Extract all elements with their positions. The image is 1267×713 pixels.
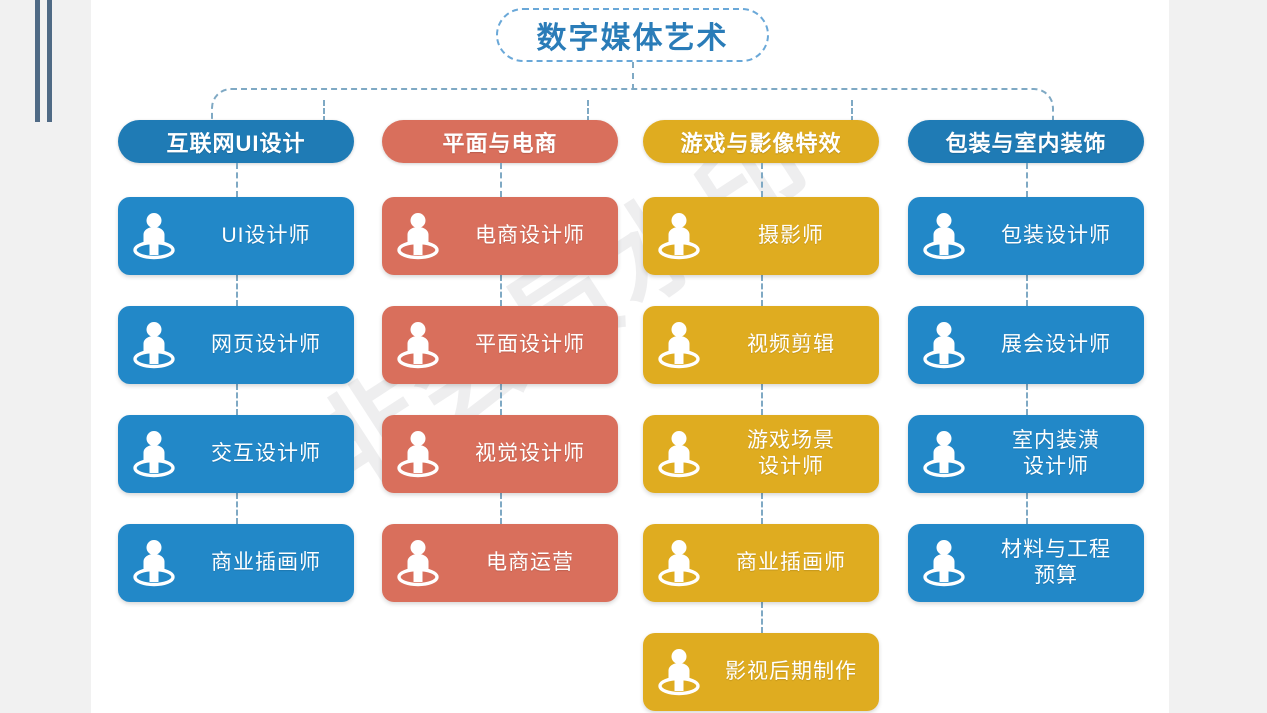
column-header-label: 平面与电商: [442, 126, 557, 158]
role-card-label: 摄影师: [715, 223, 879, 249]
column-3-link-5: [761, 602, 763, 633]
role-card-label: 视觉设计师: [454, 441, 618, 467]
column-2-link-3: [500, 384, 502, 415]
column-3-link-1: [761, 163, 763, 197]
column-header-3[interactable]: 游戏与影像特效: [643, 120, 879, 163]
person-icon: [118, 197, 190, 275]
role-card-label: 网页设计师: [190, 332, 354, 358]
left-decoration-bars: [34, 0, 58, 122]
role-card-label: 游戏场景 设计师: [715, 428, 879, 479]
person-icon: [382, 415, 454, 493]
role-card[interactable]: 摄影师: [643, 197, 879, 275]
person-icon: [382, 524, 454, 602]
role-card-label: 电商设计师: [454, 223, 618, 249]
column-1-link-3: [236, 384, 238, 415]
decoration-bar-2: [47, 0, 52, 122]
root-node-label: 数字媒体艺术: [537, 13, 729, 57]
role-card-label: 交互设计师: [190, 441, 354, 467]
decoration-bar-1: [35, 0, 40, 122]
role-card[interactable]: 材料与工程 预算: [908, 524, 1144, 602]
column-2-link-4: [500, 493, 502, 524]
slide-stage: 非会员水印 数字媒体艺术 互联网UI设计UI设计师网页设计师交互设计师商业插画师…: [0, 0, 1267, 713]
role-card[interactable]: 电商设计师: [382, 197, 618, 275]
role-card[interactable]: 视觉设计师: [382, 415, 618, 493]
diagram-canvas: 非会员水印 数字媒体艺术 互联网UI设计UI设计师网页设计师交互设计师商业插画师…: [91, 0, 1169, 713]
root-node[interactable]: 数字媒体艺术: [496, 8, 769, 62]
column-1-link-1: [236, 163, 238, 197]
role-card[interactable]: 商业插画师: [643, 524, 879, 602]
role-card[interactable]: 平面设计师: [382, 306, 618, 384]
column-4-link-1: [1026, 163, 1028, 197]
role-card[interactable]: UI设计师: [118, 197, 354, 275]
connector-root-stem: [632, 62, 634, 90]
connector-bracket: [211, 88, 1054, 122]
role-card[interactable]: 网页设计师: [118, 306, 354, 384]
role-card-label: 电商运营: [454, 550, 618, 576]
column-3-link-3: [761, 384, 763, 415]
column-header-label: 游戏与影像特效: [680, 126, 841, 158]
role-card[interactable]: 游戏场景 设计师: [643, 415, 879, 493]
person-icon: [643, 524, 715, 602]
role-card-label: 影视后期制作: [715, 659, 879, 685]
column-1-link-2: [236, 275, 238, 306]
role-card-label: 展会设计师: [980, 332, 1144, 358]
role-card[interactable]: 包装设计师: [908, 197, 1144, 275]
role-card[interactable]: 影视后期制作: [643, 633, 879, 711]
column-2-link-1: [500, 163, 502, 197]
person-icon: [643, 633, 715, 711]
column-2-link-2: [500, 275, 502, 306]
role-card-label: 包装设计师: [980, 223, 1144, 249]
person-icon: [118, 524, 190, 602]
column-4-link-3: [1026, 384, 1028, 415]
role-card-label: 商业插画师: [190, 550, 354, 576]
person-icon: [382, 197, 454, 275]
person-icon: [908, 524, 980, 602]
column-header-2[interactable]: 平面与电商: [382, 120, 618, 163]
column-header-4[interactable]: 包装与室内装饰: [908, 120, 1144, 163]
column-header-label: 互联网UI设计: [166, 126, 305, 158]
role-card-label: 材料与工程 预算: [980, 537, 1144, 588]
column-4-link-2: [1026, 275, 1028, 306]
person-icon: [118, 415, 190, 493]
connector-drop-3: [851, 100, 853, 122]
column-1-link-4: [236, 493, 238, 524]
person-icon: [908, 306, 980, 384]
role-card-label: 视频剪辑: [715, 332, 879, 358]
connector-drop-2: [587, 100, 589, 122]
column-3-link-2: [761, 275, 763, 306]
column-4-link-4: [1026, 493, 1028, 524]
role-card[interactable]: 展会设计师: [908, 306, 1144, 384]
column-header-label: 包装与室内装饰: [945, 126, 1106, 158]
column-3-link-4: [761, 493, 763, 524]
role-card-label: 室内装潢 设计师: [980, 428, 1144, 479]
person-icon: [382, 306, 454, 384]
role-card[interactable]: 交互设计师: [118, 415, 354, 493]
person-icon: [908, 197, 980, 275]
role-card[interactable]: 电商运营: [382, 524, 618, 602]
role-card-label: 商业插画师: [715, 550, 879, 576]
person-icon: [908, 415, 980, 493]
person-icon: [643, 306, 715, 384]
person-icon: [118, 306, 190, 384]
role-card-label: 平面设计师: [454, 332, 618, 358]
role-card[interactable]: 室内装潢 设计师: [908, 415, 1144, 493]
connector-drop-1: [323, 100, 325, 122]
role-card[interactable]: 视频剪辑: [643, 306, 879, 384]
column-header-1[interactable]: 互联网UI设计: [118, 120, 354, 163]
role-card-label: UI设计师: [190, 223, 354, 249]
role-card[interactable]: 商业插画师: [118, 524, 354, 602]
person-icon: [643, 415, 715, 493]
person-icon: [643, 197, 715, 275]
